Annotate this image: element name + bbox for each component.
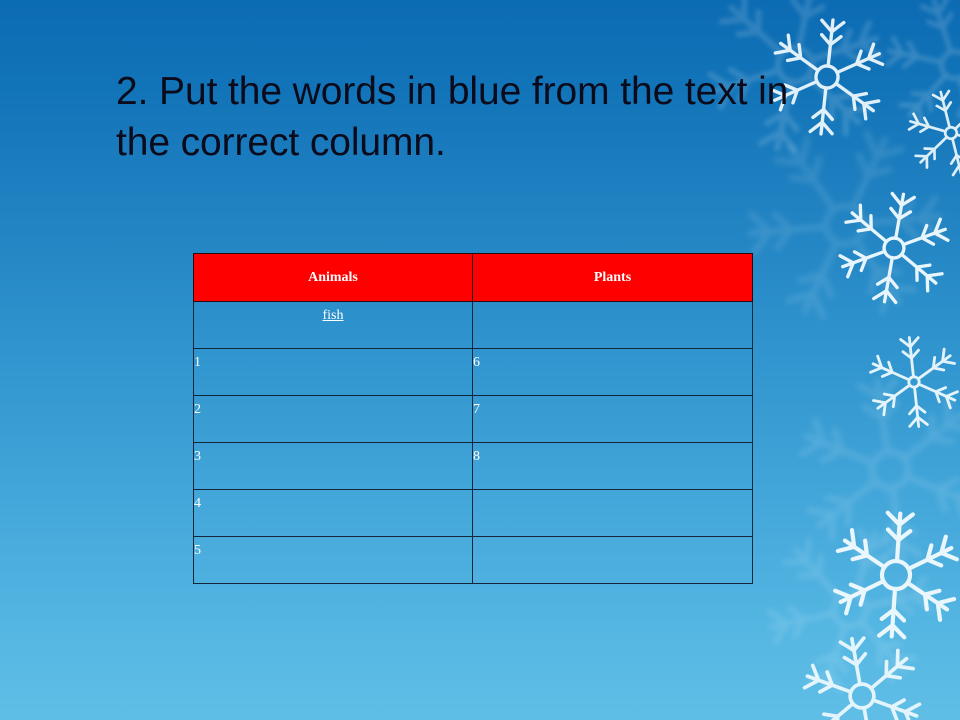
- cell-plants-7[interactable]: 7: [473, 396, 753, 443]
- table-row: 1 6: [194, 349, 753, 396]
- table-row: 2 7: [194, 396, 753, 443]
- snowflake-icon: [786, 620, 939, 720]
- cell-plants-empty[interactable]: [473, 537, 753, 584]
- table-body: fish 1 6 2 7 3 8 4 5: [194, 302, 753, 584]
- table-header: Animals Plants: [194, 254, 753, 302]
- answer-table: Animals Plants fish 1 6 2 7 3 8 4 5: [193, 253, 753, 584]
- snowflake-icon: [821, 500, 960, 649]
- cell-plants-empty[interactable]: [473, 302, 753, 349]
- cell-animals-4[interactable]: 4: [194, 490, 473, 537]
- column-header-animals: Animals: [194, 254, 473, 302]
- table-row: 5: [194, 537, 753, 584]
- cell-plants-empty[interactable]: [473, 490, 753, 537]
- cell-plants-6[interactable]: 6: [473, 349, 753, 396]
- cell-animals-example[interactable]: fish: [194, 302, 473, 349]
- table-row: 4: [194, 490, 753, 537]
- cell-animals-1[interactable]: 1: [194, 349, 473, 396]
- snowflake-icon: [860, 0, 960, 160]
- cell-animals-2[interactable]: 2: [194, 396, 473, 443]
- column-header-plants: Plants: [473, 254, 753, 302]
- cell-animals-3[interactable]: 3: [194, 443, 473, 490]
- snowflake-icon: [737, 497, 960, 720]
- table-row: fish: [194, 302, 753, 349]
- example-word: fish: [323, 308, 344, 323]
- table-header-row: Animals Plants: [194, 254, 753, 302]
- cell-animals-5[interactable]: 5: [194, 537, 473, 584]
- cell-plants-8[interactable]: 8: [473, 443, 753, 490]
- snowflake-icon: [777, 357, 960, 583]
- snowflake-icon: [822, 176, 960, 320]
- table-row: 3 8: [194, 443, 753, 490]
- snowflake-icon: [893, 75, 960, 191]
- snowflake-icon: [857, 325, 960, 439]
- page-title: 2. Put the words in blue from the text i…: [116, 66, 846, 169]
